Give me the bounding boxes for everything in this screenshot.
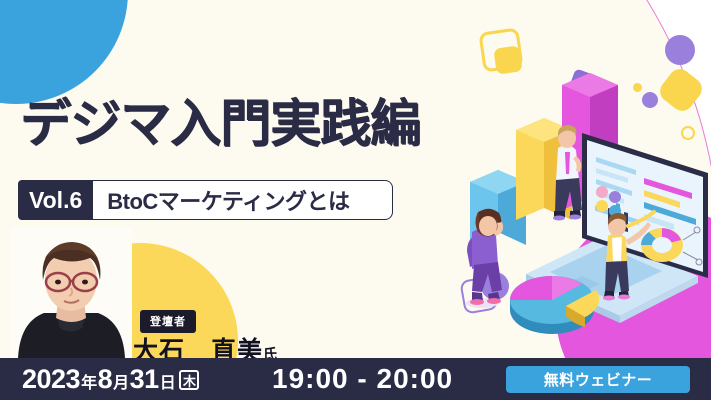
date-month-unit: 月: [112, 369, 130, 393]
page-title: デジマ入門実践編: [20, 98, 420, 149]
date-month: 8: [98, 364, 113, 395]
volume-badge: Vol.6: [18, 180, 93, 220]
subtitle-text: BtoCマーケティングとは: [107, 184, 349, 216]
event-date: 2023 年 8 月 31 日 木: [22, 364, 199, 395]
speaker-avatar: [10, 228, 132, 358]
free-webinar-badge: 無料ウェビナー: [506, 366, 690, 393]
donut-chart-icon: [641, 228, 683, 262]
speaker-role-label: 登壇者: [140, 310, 196, 333]
date-day: 31: [130, 364, 159, 395]
subtitle-row: Vol.6 BtoCマーケティングとは: [18, 180, 393, 220]
day-of-week-badge: 木: [179, 370, 199, 390]
footer-bar: 2023 年 8 月 31 日 木 19:00 - 20:00 無料ウェビナー: [0, 358, 711, 400]
date-year-unit: 年: [80, 369, 98, 393]
subtitle-box: BtoCマーケティングとは: [93, 180, 393, 220]
event-time: 19:00 - 20:00: [272, 363, 453, 395]
date-day-unit: 日: [159, 369, 177, 393]
analytics-illustration: [430, 60, 711, 360]
webinar-banner: デジマ入門実践編 Vol.6 BtoCマーケティングとは 登壇者 大石 直美氏 …: [0, 0, 711, 400]
date-year: 2023: [22, 364, 80, 395]
